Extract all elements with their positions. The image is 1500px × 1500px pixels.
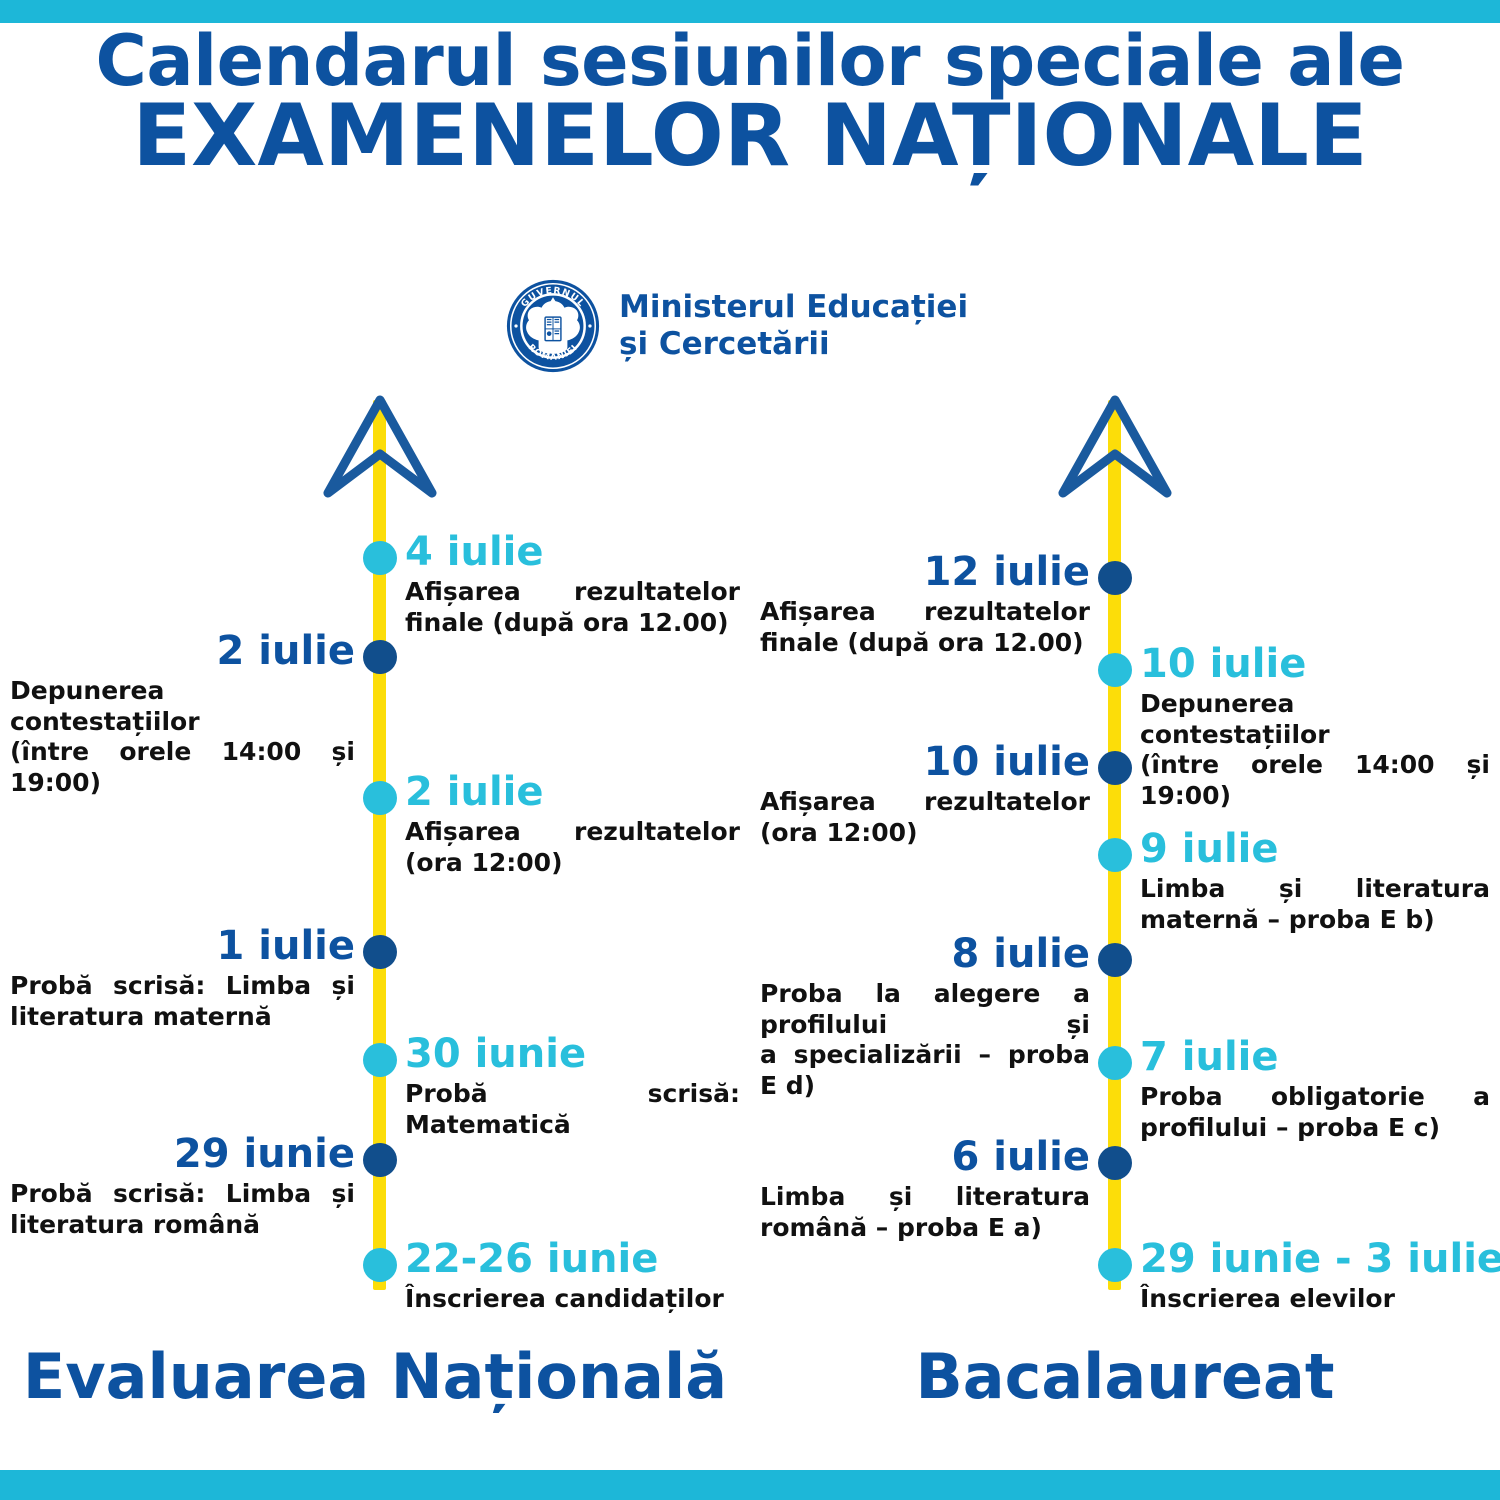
timeline-evaluarea-nationala: 4 iulieAfișarea rezultatelorfinale (după… [0,0,750,1500]
timeline-entry: 10 iulieAfișarea rezultatelor(ora 12:00) [760,742,1090,848]
timeline-dot [363,781,397,815]
timeline-dot [1098,1046,1132,1080]
timeline-entry-description: Depunerea contestațiilor(între orele 14:… [10,676,355,798]
timeline-entry-description: Proba la alegere a profilului șia specia… [760,979,1090,1101]
timeline-arrow-icon [1055,388,1175,503]
timeline-entry-date: 1 iulie [10,926,355,966]
timeline-entry-description: Afișarea rezultatelorfinale (după ora 12… [405,577,740,638]
timeline-entry-description: Afișarea rezultatelorfinale (după ora 12… [760,597,1090,658]
timeline-entry-date: 29 iunie - 3 iulie [1140,1239,1490,1279]
timeline-dot [1098,751,1132,785]
timeline-dot [1098,943,1132,977]
timeline-entry-description: Limba și literaturamaternă – proba E b) [1140,874,1490,935]
timeline-entry-date: 9 iulie [1140,829,1490,869]
timeline-dot [1098,1146,1132,1180]
timeline-dot [1098,653,1132,687]
timeline-entry: 2 iulieAfișarea rezultatelor(ora 12:00) [405,772,740,878]
timeline-entry-description: Înscrierea candidaților [405,1284,740,1315]
timeline-arrow-icon [320,388,440,503]
timeline-entry-date: 12 iulie [760,552,1090,592]
timeline-entry-description: Probă scrisă: Matematică [405,1079,740,1140]
timeline-entry-description: Probă scrisă: Limba șiliteratura română [10,1179,355,1240]
timeline-entry-date: 7 iulie [1140,1037,1490,1077]
timeline-entry-description: Afișarea rezultatelor(ora 12:00) [405,817,740,878]
timeline-entry-description: Limba și literaturaromână – proba E a) [760,1182,1090,1243]
timeline-dot [1098,561,1132,595]
timeline-entry: 30 iunieProbă scrisă: Matematică [405,1034,740,1140]
timeline-bacalaureat: 12 iulieAfișarea rezultatelorfinale (dup… [750,0,1500,1500]
timeline-entry-date: 30 iunie [405,1034,740,1074]
timeline-entry-date: 10 iulie [1140,644,1490,684]
timeline-dot [363,1043,397,1077]
timeline-entry: 22-26 iunieÎnscrierea candidaților [405,1239,740,1315]
timeline-entry-description: Afișarea rezultatelor(ora 12:00) [760,787,1090,848]
timeline-entry: 29 iunieProbă scrisă: Limba șiliteratura… [10,1134,355,1240]
timeline-entry-date: 4 iulie [405,532,740,572]
timeline-entry: 9 iulieLimba și literaturamaternă – prob… [1140,829,1490,935]
timeline-dot [363,1248,397,1282]
timeline-entry-description: Probă scrisă: Limba șiliteratura maternă [10,971,355,1032]
section-title-evaluarea-nationala: Evaluarea Națională [0,1340,750,1413]
timeline-entry: 8 iulieProba la alegere a profilului șia… [760,934,1090,1101]
timeline-entry: 29 iunie - 3 iulieÎnscrierea elevilor [1140,1239,1490,1315]
timeline-entry: 10 iulieDepunerea contestațiilor(între o… [1140,644,1490,811]
timeline-entry-date: 2 iulie [10,631,355,671]
timeline-entry: 6 iulieLimba și literaturaromână – proba… [760,1137,1090,1243]
timeline-entry: 4 iulieAfișarea rezultatelorfinale (după… [405,532,740,638]
timeline-dot [1098,1248,1132,1282]
timeline-entry-description: Depunerea contestațiilor(între orele 14:… [1140,689,1490,811]
timeline-dot [363,935,397,969]
timeline-entry-date: 29 iunie [10,1134,355,1174]
timeline-entry: 7 iulieProba obligatorie aprofilului – p… [1140,1037,1490,1143]
timeline-entry-date: 10 iulie [760,742,1090,782]
timeline-entry: 12 iulieAfișarea rezultatelorfinale (dup… [760,552,1090,658]
timeline-entry-date: 6 iulie [760,1137,1090,1177]
timeline-entry: 2 iulieDepunerea contestațiilor(între or… [10,631,355,798]
timeline-entry: 1 iulieProbă scrisă: Limba șiliteratura … [10,926,355,1032]
section-title-bacalaureat: Bacalaureat [750,1340,1500,1413]
timeline-entry-date: 22-26 iunie [405,1239,740,1279]
timeline-entry-date: 2 iulie [405,772,740,812]
timeline-dot [1098,838,1132,872]
timeline-dot [363,1143,397,1177]
timeline-entry-date: 8 iulie [760,934,1090,974]
bottom-accent-bar [0,1470,1500,1500]
timeline-entry-description: Înscrierea elevilor [1140,1284,1490,1315]
timeline-dot [363,640,397,674]
timeline-entry-description: Proba obligatorie aprofilului – proba E … [1140,1082,1490,1143]
timeline-dot [363,541,397,575]
